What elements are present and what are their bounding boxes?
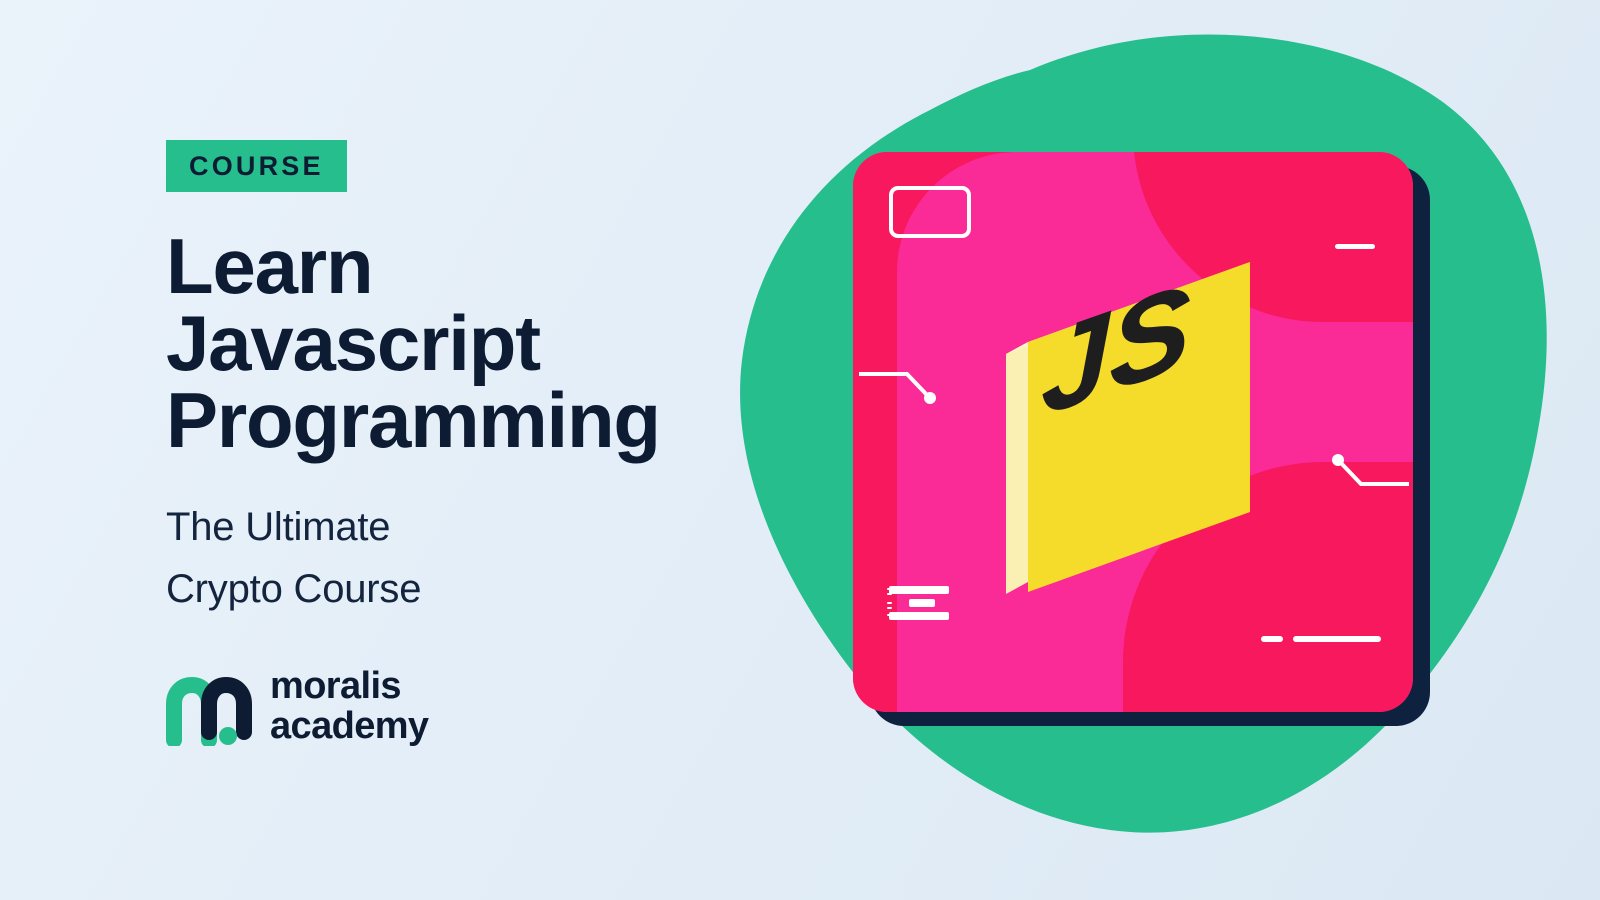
wire-node-right-icon — [1325, 448, 1409, 494]
bar-middle — [909, 599, 935, 607]
bar-tick-3 — [887, 602, 892, 604]
bar-tick-5 — [887, 614, 892, 616]
subtitle-line-2: Crypto Course — [166, 558, 786, 620]
headline-line-3: Programming — [166, 382, 786, 459]
page-subtitle: The Ultimate Crypto Course — [166, 496, 786, 620]
dash-top-right-icon — [1335, 244, 1375, 249]
pink-card: JS — [853, 152, 1413, 712]
dash-bottom-right-long-icon — [1293, 636, 1381, 642]
bar-tick-1 — [887, 588, 892, 590]
logo-word-moralis: moralis — [270, 666, 428, 706]
moralis-m-mark-icon — [166, 666, 252, 746]
text-column: COURSE Learn Javascript Programming The … — [166, 140, 786, 746]
bar-tick-2 — [887, 593, 892, 595]
logo-word-academy: academy — [270, 706, 428, 746]
headline-line-2: Javascript — [166, 305, 786, 382]
course-banner: COURSE Learn Javascript Programming The … — [0, 0, 1600, 900]
bar-tick-4 — [887, 607, 892, 609]
javascript-illustration: JS — [820, 120, 1480, 780]
bar-bottom — [889, 612, 949, 620]
stacked-bars-icon — [887, 586, 959, 620]
course-badge: COURSE — [166, 140, 347, 192]
bar-top — [889, 586, 949, 594]
logo-wordmark: moralis academy — [270, 666, 428, 747]
page-title: Learn Javascript Programming — [166, 228, 786, 460]
javascript-tile-icon: JS — [998, 262, 1278, 662]
headline-line-1: Learn — [166, 228, 786, 305]
moralis-academy-logo: moralis academy — [166, 666, 786, 747]
rounded-rectangle-outline-icon — [889, 186, 971, 238]
subtitle-line-1: The Ultimate — [166, 496, 786, 558]
wire-node-left-icon — [859, 364, 943, 410]
